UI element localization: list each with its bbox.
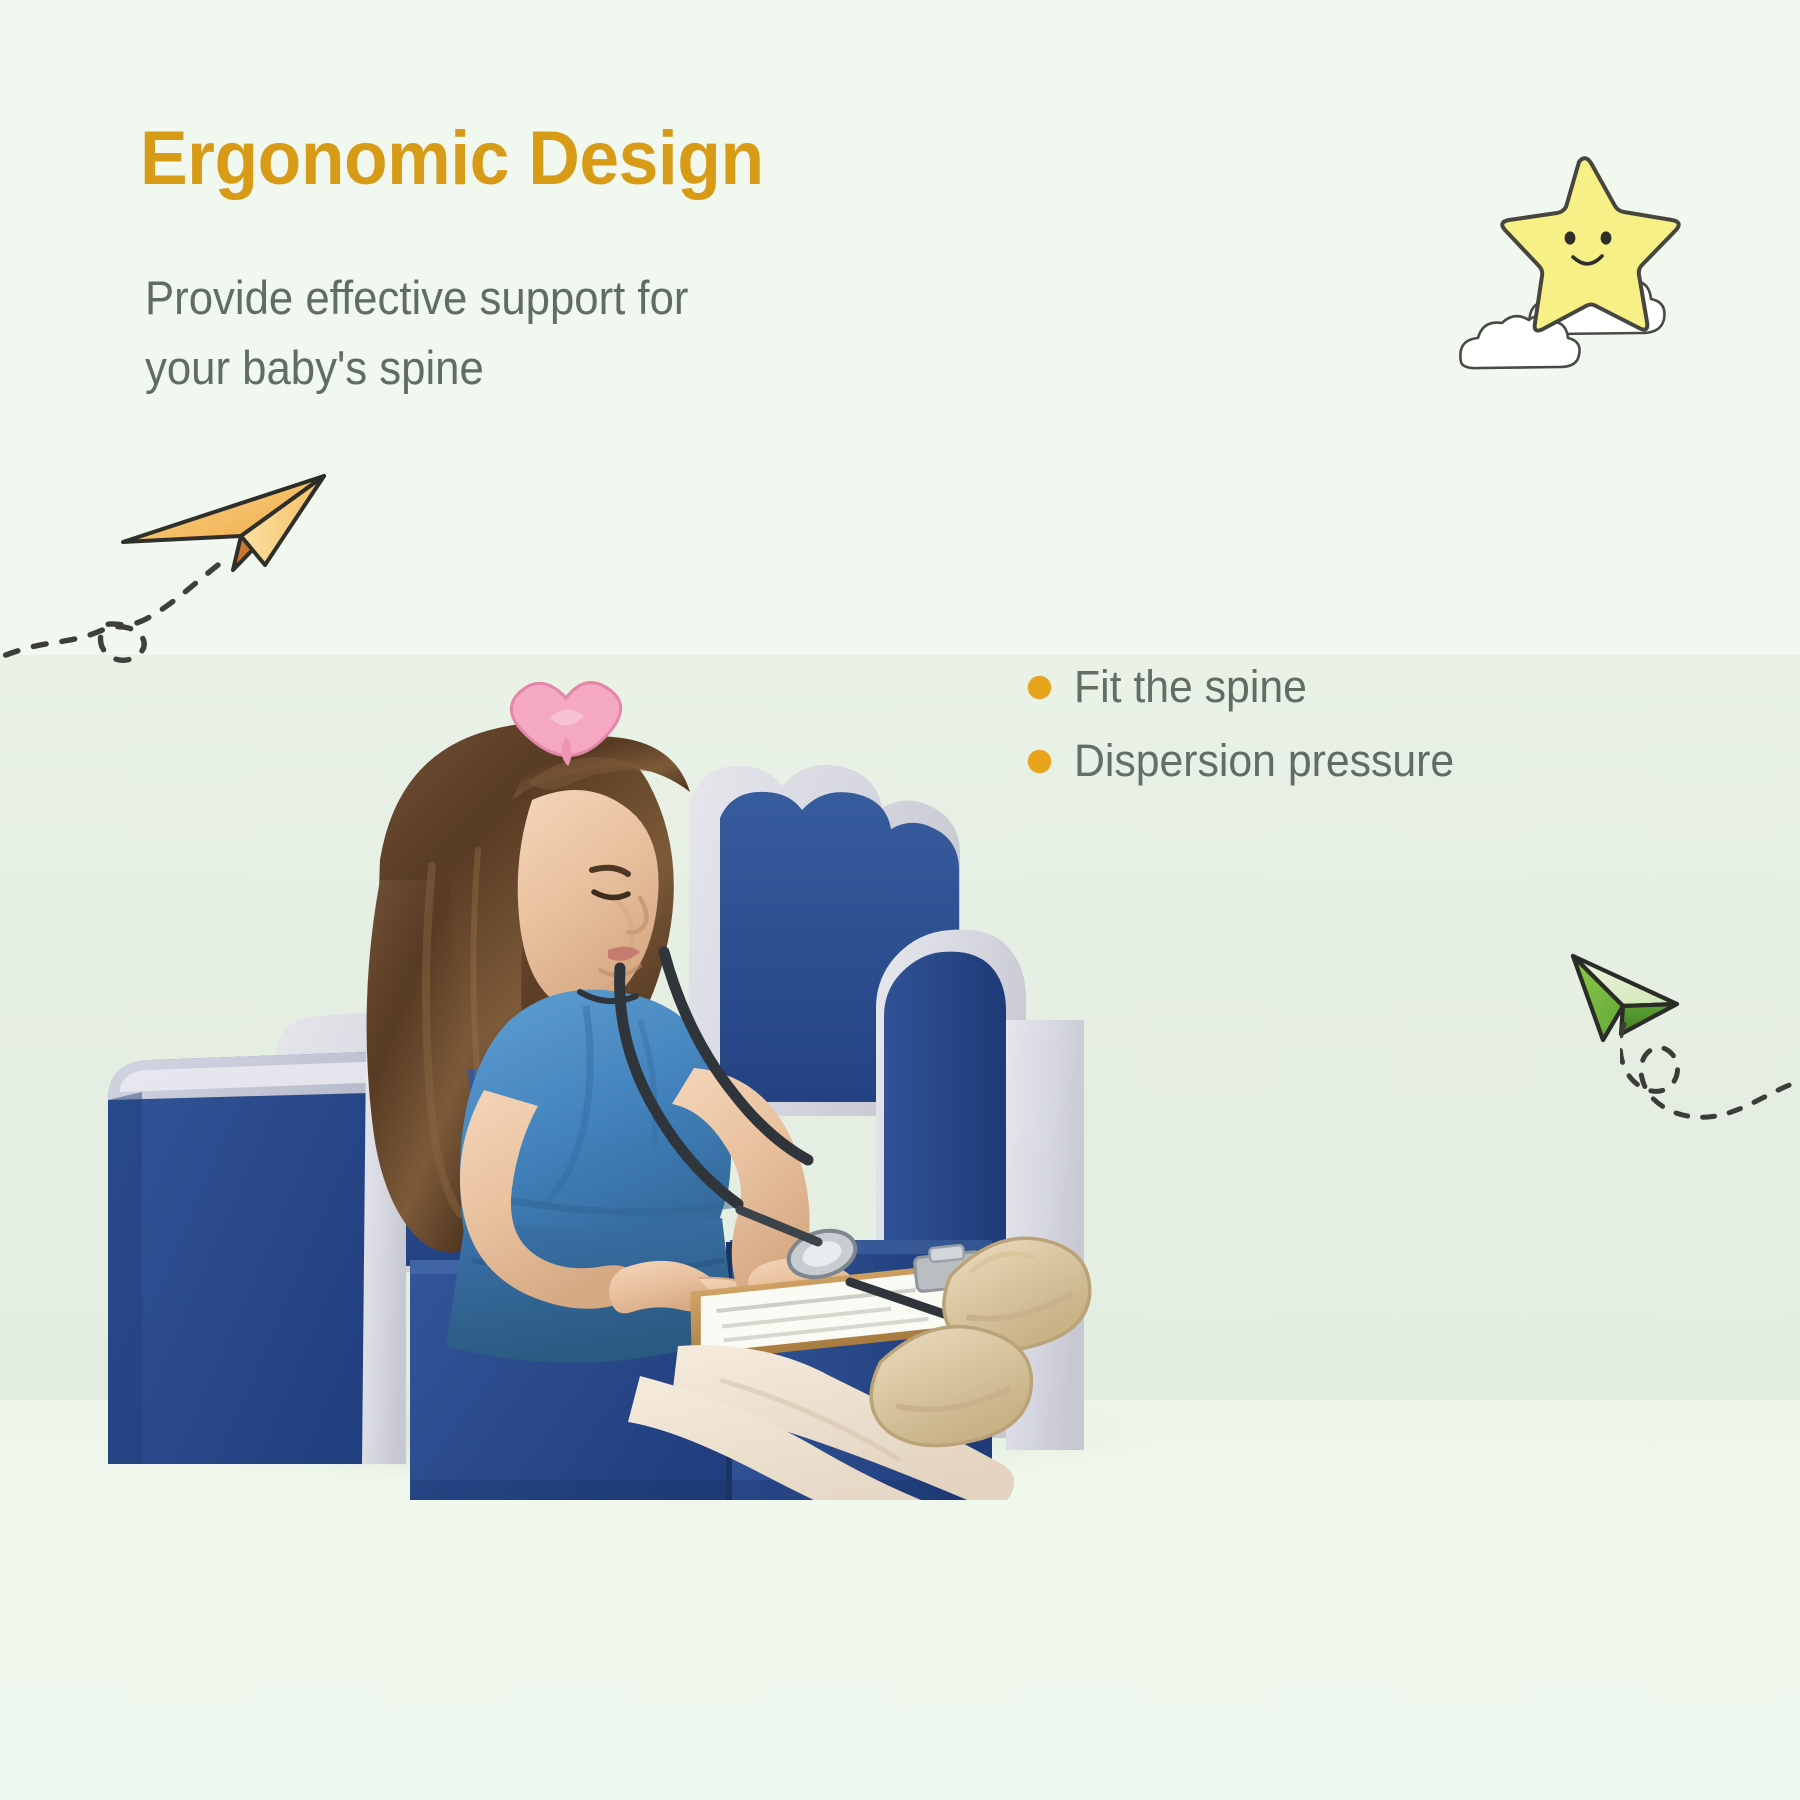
page-subtitle-line-1: Provide effective support for [145, 263, 852, 333]
star-cloud-icon [1455, 140, 1685, 370]
page-title: Ergonomic Design [140, 117, 764, 201]
paper-plane-green-trail-icon [1620, 1010, 1800, 1140]
page-subtitle: Provide effective support for your baby'… [145, 263, 852, 403]
marketing-banner: Ergonomic Design Provide effective suppo… [0, 0, 1800, 1800]
product-photo [80, 500, 1210, 1500]
page-subtitle-line-2: your baby's spine [145, 333, 852, 403]
